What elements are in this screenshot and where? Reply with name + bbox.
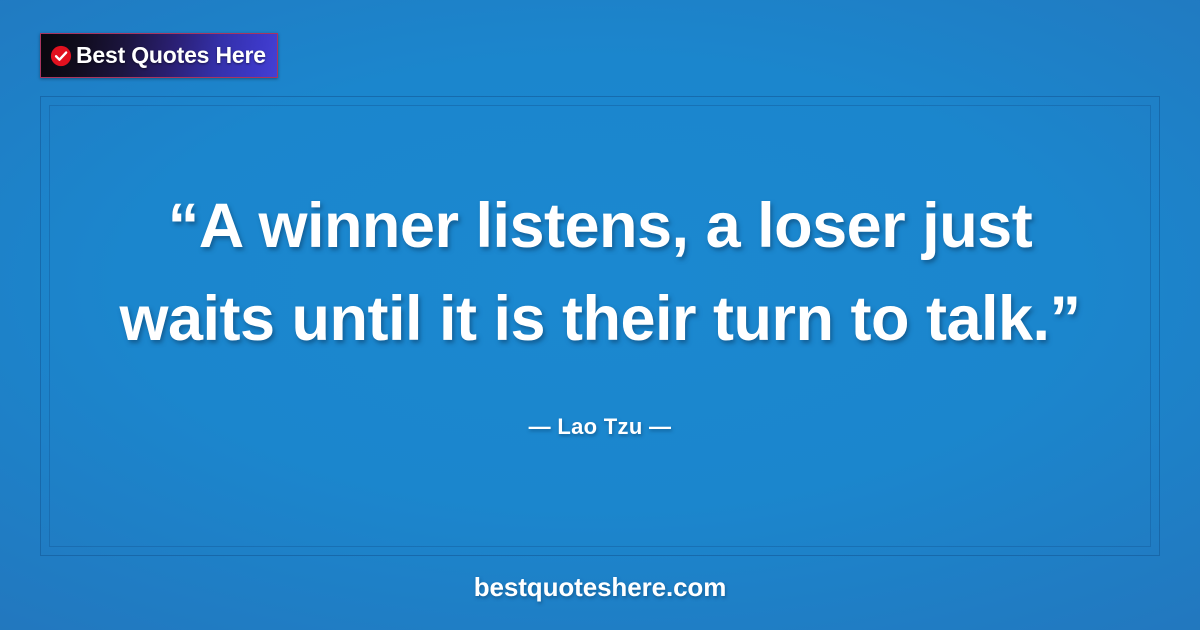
site-url: bestquoteshere.com <box>0 572 1200 603</box>
quote-text: “A winner listens, a loser just waits un… <box>95 180 1105 366</box>
quote-author: — Lao Tzu — <box>529 414 672 440</box>
quote-card: “A winner listens, a loser just waits un… <box>60 130 1140 490</box>
check-circle-icon <box>50 45 72 67</box>
brand-badge-label: Best Quotes Here <box>76 44 266 67</box>
brand-badge[interactable]: Best Quotes Here <box>40 33 278 78</box>
